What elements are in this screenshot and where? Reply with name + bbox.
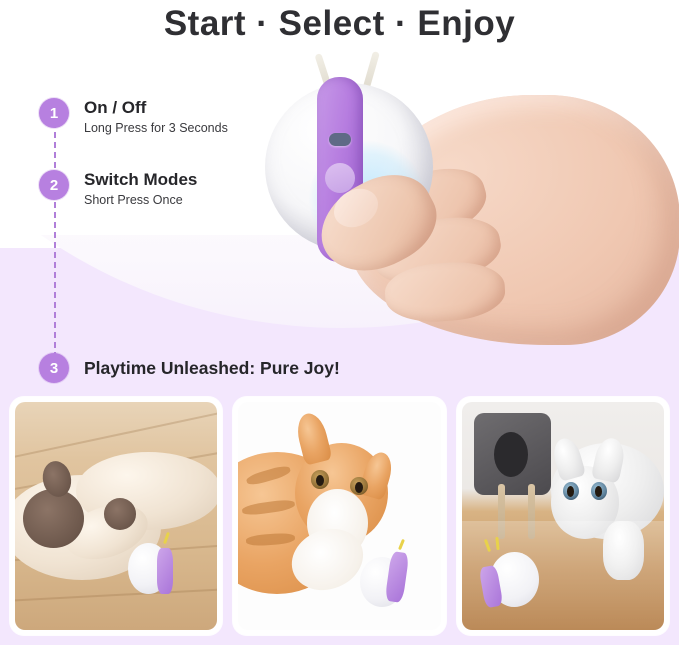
step-badge-3: 3 — [39, 353, 69, 383]
step-item-3: 3 Playtime Unleashed: Pure Joy! — [39, 353, 340, 383]
step-text-2: Switch Modes Short Press Once — [84, 170, 197, 209]
toy-power-button — [325, 163, 355, 193]
toy-antenna-in-photo — [398, 539, 405, 550]
step-subtitle-1: Long Press for 3 Seconds — [84, 120, 228, 137]
step-title-1: On / Off — [84, 98, 228, 118]
toy-indicator-icon — [329, 133, 351, 146]
step-text-1: On / Off Long Press for 3 Seconds — [84, 98, 228, 137]
hero-product-image — [255, 55, 679, 345]
product-infographic-page: Start · Select · Enjoy 1 On / Off Long P… — [0, 0, 679, 645]
step-item-1: 1 On / Off Long Press for 3 Seconds — [39, 98, 228, 137]
cat-pupil-right — [595, 486, 602, 496]
gallery-card-1 — [10, 397, 222, 635]
steps-connector-line — [54, 122, 56, 368]
step-item-2: 2 Switch Modes Short Press Once — [39, 170, 197, 209]
gallery-card-2 — [233, 397, 445, 635]
page-title: Start · Select · Enjoy — [0, 2, 679, 46]
toy-antenna-in-photo — [163, 532, 170, 544]
photo-siamese-cat — [15, 402, 217, 630]
photo-silver-tabby — [462, 402, 664, 630]
wood-plank-line — [15, 586, 217, 603]
step-badge-2: 2 — [39, 170, 69, 200]
cat-pupil-right — [355, 482, 363, 493]
photo-gallery — [10, 397, 669, 635]
cat-pupil-left — [567, 486, 574, 496]
step-text-3: Playtime Unleashed: Pure Joy! — [84, 358, 340, 378]
step-badge-1: 1 — [39, 98, 69, 128]
step-subtitle-2: Short Press Once — [84, 192, 197, 209]
step-title-2: Switch Modes — [84, 170, 197, 190]
photo-orange-tabby — [238, 402, 440, 630]
cat-paw-dark — [104, 498, 136, 530]
cat-face-mask — [23, 489, 84, 548]
toy-strip-in-photo — [157, 548, 173, 594]
step-title-3: Playtime Unleashed: Pure Joy! — [84, 358, 340, 378]
gallery-card-3 — [457, 397, 669, 635]
